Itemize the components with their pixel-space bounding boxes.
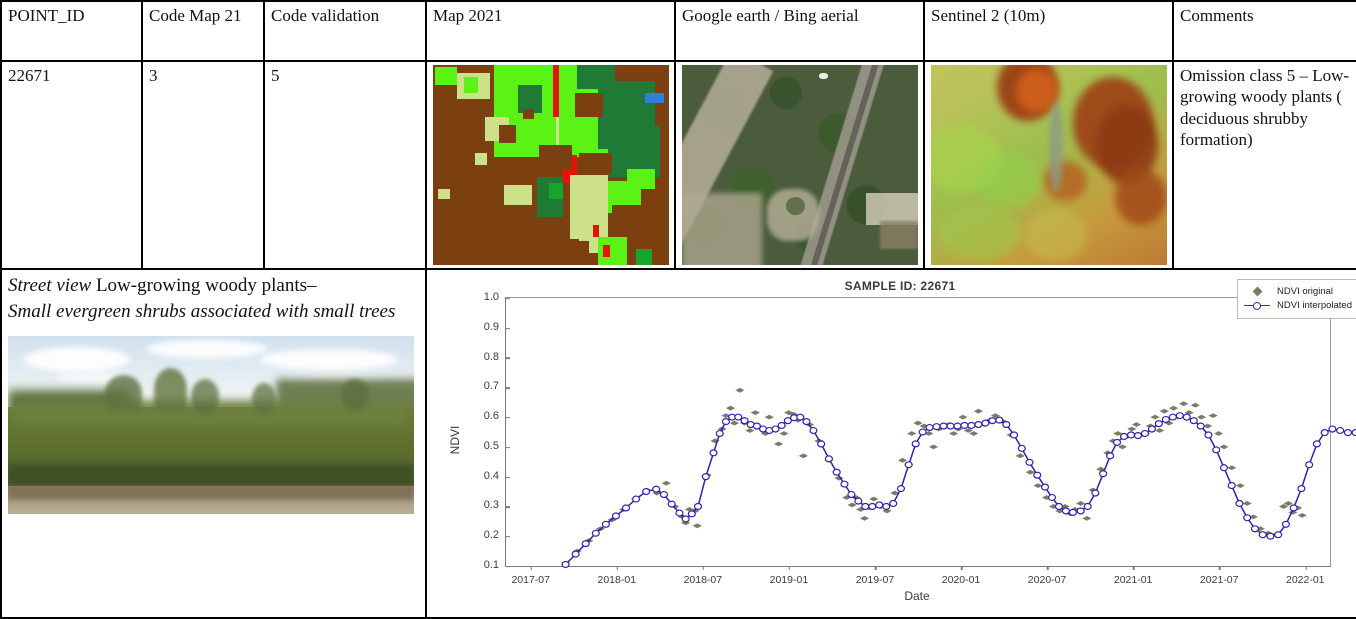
diamond-marker-icon bbox=[1244, 288, 1270, 295]
cell-code-map-21: 3 bbox=[142, 61, 264, 269]
interpolated-marker bbox=[975, 422, 982, 428]
interpolated-marker bbox=[818, 441, 825, 447]
interpolated-marker bbox=[1183, 414, 1190, 420]
interpolated-marker bbox=[633, 496, 640, 502]
interpolated-marker bbox=[919, 429, 926, 435]
interpolated-marker bbox=[1011, 432, 1018, 438]
legend-label: NDVI interpolated bbox=[1277, 299, 1352, 313]
interpolated-marker bbox=[883, 503, 890, 509]
scatter-point bbox=[1298, 513, 1307, 518]
cell-code-validation: 5 bbox=[264, 61, 426, 269]
interpolated-marker bbox=[1026, 459, 1033, 465]
interpolated-marker bbox=[1251, 526, 1258, 532]
scatter-point bbox=[726, 406, 735, 411]
x-axis-tick: 2021-07 bbox=[1200, 566, 1239, 587]
interpolated-marker bbox=[653, 486, 660, 492]
scatter-point bbox=[751, 410, 760, 415]
interpolated-marker bbox=[1275, 532, 1282, 538]
street-view-caption: Street view Low-growing woody plants– Sm… bbox=[8, 273, 419, 324]
cloud-shape bbox=[24, 347, 130, 372]
interpolated-marker bbox=[695, 503, 702, 509]
header-point-id: POINT_ID bbox=[1, 1, 142, 61]
caption-line-2: Small evergreen shrubs associated with s… bbox=[8, 301, 395, 322]
x-axis-tick: 2020-07 bbox=[1028, 566, 1067, 587]
table-header-row: POINT_ID Code Map 21 Code validation Map… bbox=[1, 1, 1356, 61]
interpolated-marker bbox=[1169, 414, 1176, 420]
interpolated-marker bbox=[989, 418, 996, 424]
interpolated-marker bbox=[810, 428, 817, 434]
interpolated-marker bbox=[926, 425, 933, 431]
interpolated-marker bbox=[940, 423, 947, 429]
interpolated-marker bbox=[1018, 445, 1025, 451]
caption-italic-lead: Street view bbox=[8, 275, 91, 296]
chart-title: SAMPLE ID: 22671 bbox=[433, 279, 1356, 294]
interpolated-marker bbox=[716, 431, 723, 437]
map-2021-image bbox=[433, 65, 669, 265]
interpolated-marker bbox=[741, 418, 748, 424]
scatter-point bbox=[929, 444, 938, 449]
scatter-point bbox=[1160, 409, 1169, 414]
interpolated-marker bbox=[778, 423, 785, 429]
interpolated-marker bbox=[1114, 439, 1121, 445]
scatter-point bbox=[1191, 403, 1200, 408]
interpolated-marker bbox=[1190, 418, 1197, 424]
interpolated-marker bbox=[1107, 453, 1114, 459]
chart-series-svg bbox=[506, 298, 1330, 566]
scatter-point bbox=[898, 458, 907, 463]
interpolated-marker bbox=[862, 503, 869, 509]
interpolated-marker bbox=[869, 503, 876, 509]
scatter-point bbox=[974, 409, 983, 414]
interpolated-marker bbox=[905, 462, 912, 468]
x-axis-tick: 2019-01 bbox=[770, 566, 809, 587]
interpolated-marker bbox=[876, 502, 883, 508]
scatter-point bbox=[662, 481, 671, 486]
y-axis-tick: 0.9 bbox=[484, 321, 506, 335]
interpolated-marker bbox=[688, 511, 695, 517]
interpolated-marker bbox=[1267, 533, 1274, 539]
street-view-photo bbox=[8, 336, 414, 514]
scatter-point bbox=[1169, 406, 1178, 411]
interpolated-marker bbox=[1084, 503, 1091, 509]
interpolated-marker bbox=[1259, 532, 1266, 538]
interpolated-marker bbox=[890, 501, 897, 507]
interpolated-marker bbox=[1344, 430, 1351, 436]
interpolated-marker bbox=[1121, 434, 1128, 440]
interpolated-marker bbox=[710, 450, 717, 456]
interpolated-marker bbox=[562, 562, 569, 568]
y-axis-tick: 0.6 bbox=[484, 410, 506, 424]
scatter-point bbox=[1243, 501, 1252, 506]
chart-plot-area: 1.00.90.80.70.60.50.40.30.20.12017-07201… bbox=[505, 297, 1331, 567]
scatter-point bbox=[869, 497, 878, 502]
interpolated-marker bbox=[602, 521, 609, 527]
y-axis-tick: 0.8 bbox=[484, 351, 506, 365]
interpolated-marker bbox=[897, 486, 904, 492]
interpolated-marker bbox=[1034, 472, 1041, 478]
interpolated-marker bbox=[702, 474, 709, 480]
interpolated-marker bbox=[1197, 423, 1204, 429]
interpolated-marker bbox=[1213, 447, 1220, 453]
validation-table: POINT_ID Code Map 21 Code validation Map… bbox=[0, 0, 1356, 619]
scatter-point bbox=[765, 415, 774, 420]
interpolated-marker bbox=[1155, 421, 1162, 427]
scatter-point bbox=[779, 431, 788, 436]
cell-aerial-thumbnail bbox=[675, 61, 924, 269]
interpolated-marker bbox=[848, 492, 855, 498]
interpolated-marker bbox=[1329, 426, 1336, 432]
interpolated-marker bbox=[582, 541, 589, 547]
scatter-point bbox=[907, 431, 916, 436]
interpolated-marker bbox=[855, 498, 862, 504]
interpolated-marker bbox=[1352, 430, 1356, 436]
interpolated-marker bbox=[1220, 465, 1227, 471]
interpolated-marker bbox=[660, 492, 667, 498]
interpolated-marker bbox=[572, 551, 579, 557]
interpolated-marker bbox=[1100, 471, 1107, 477]
interpolated-line bbox=[566, 416, 1356, 565]
x-axis-tick: 2017-07 bbox=[511, 566, 550, 587]
interpolated-marker bbox=[825, 456, 832, 462]
interpolated-marker bbox=[668, 501, 675, 507]
scatter-point bbox=[693, 523, 702, 528]
scatter-point bbox=[1209, 413, 1218, 418]
interpolated-marker bbox=[961, 423, 968, 429]
x-axis-tick: 2022-01 bbox=[1286, 566, 1325, 587]
cell-street-view: Street view Low-growing woody plants– Sm… bbox=[1, 269, 426, 618]
interpolated-marker bbox=[1128, 432, 1135, 438]
chart-x-axis-label: Date bbox=[505, 589, 1329, 604]
scatter-point bbox=[1155, 428, 1164, 433]
small-tree bbox=[252, 383, 276, 415]
cloud-shape bbox=[146, 340, 268, 358]
interpolated-marker bbox=[1321, 430, 1328, 436]
cloud-shape bbox=[260, 349, 398, 370]
google-earth-bing-aerial-image bbox=[682, 65, 918, 265]
interpolated-marker bbox=[676, 510, 683, 516]
scatter-point bbox=[1197, 415, 1206, 420]
header-map-2021: Map 2021 bbox=[426, 1, 675, 61]
header-code-map-21: Code Map 21 bbox=[142, 1, 264, 61]
cell-ndvi-chart: SAMPLE ID: 22671 NDVI Date 1.00.90.80.70… bbox=[426, 269, 1356, 618]
y-axis-tick: 1.0 bbox=[484, 291, 506, 305]
scatter-point bbox=[1179, 401, 1188, 406]
scatter-point bbox=[860, 516, 869, 521]
interpolated-marker bbox=[682, 516, 689, 522]
scatter-point bbox=[799, 453, 808, 458]
interpolated-marker bbox=[1313, 441, 1320, 447]
header-comments: Comments bbox=[1173, 1, 1356, 61]
scatter-point bbox=[730, 421, 739, 426]
gravel-band bbox=[8, 486, 414, 500]
interpolated-marker bbox=[1069, 509, 1076, 515]
interpolated-marker bbox=[623, 505, 630, 511]
interpolated-marker bbox=[947, 423, 954, 429]
y-axis-tick: 0.5 bbox=[484, 440, 506, 454]
cell-point-id: 22671 bbox=[1, 61, 142, 269]
legend-item-ndvi-original: NDVI original bbox=[1244, 285, 1352, 299]
table-row-streetview: Street view Low-growing woody plants– Sm… bbox=[1, 269, 1356, 618]
interpolated-marker bbox=[803, 419, 810, 425]
y-axis-tick: 0.3 bbox=[484, 500, 506, 514]
interpolated-marker bbox=[1141, 431, 1148, 437]
interpolated-marker bbox=[982, 420, 989, 426]
document-page: POINT_ID Code Map 21 Code validation Map… bbox=[0, 0, 1356, 619]
interpolated-marker bbox=[612, 513, 619, 519]
cell-comments: Omission class 5 – Low-growing woody pla… bbox=[1173, 61, 1356, 269]
scatter-point bbox=[1227, 465, 1236, 470]
interpolated-marker bbox=[1056, 503, 1063, 509]
interpolated-marker bbox=[1062, 508, 1069, 514]
interpolated-marker bbox=[1306, 462, 1313, 468]
chart-y-axis-label: NDVI bbox=[448, 426, 463, 455]
interpolated-marker bbox=[996, 417, 1003, 423]
interpolated-marker bbox=[1176, 413, 1183, 419]
interpolated-marker bbox=[833, 469, 840, 475]
interpolated-marker bbox=[1228, 483, 1235, 489]
y-axis-tick: 0.7 bbox=[484, 380, 506, 394]
x-axis-tick: 2019-07 bbox=[856, 566, 895, 587]
interpolated-marker bbox=[1042, 484, 1049, 490]
header-aerial: Google earth / Bing aerial bbox=[675, 1, 924, 61]
ndvi-time-series-chart: SAMPLE ID: 22671 NDVI Date 1.00.90.80.70… bbox=[433, 273, 1356, 607]
scatter-point bbox=[1016, 453, 1025, 458]
y-axis-tick: 0.1 bbox=[484, 559, 506, 573]
y-axis-tick: 0.2 bbox=[484, 529, 506, 543]
cell-sentinel2-thumbnail bbox=[924, 61, 1173, 269]
interpolated-marker bbox=[1337, 428, 1344, 434]
header-sentinel2: Sentinel 2 (10m) bbox=[924, 1, 1173, 61]
x-axis-tick: 2018-07 bbox=[684, 566, 723, 587]
scatter-point bbox=[969, 431, 978, 436]
x-axis-tick: 2020-01 bbox=[942, 566, 981, 587]
interpolated-marker bbox=[1282, 521, 1289, 527]
interpolated-marker bbox=[1148, 426, 1155, 432]
interpolated-marker bbox=[797, 414, 804, 420]
interpolated-marker bbox=[933, 424, 940, 430]
scatter-point bbox=[745, 428, 754, 433]
scatter-point bbox=[1214, 431, 1223, 436]
header-code-validation: Code validation bbox=[264, 1, 426, 61]
caption-rest: Low-growing woody plants– bbox=[91, 275, 316, 296]
scatter-point bbox=[1150, 415, 1159, 420]
legend-item-ndvi-interpolated: NDVI interpolated bbox=[1244, 299, 1352, 313]
interpolated-marker bbox=[968, 423, 975, 429]
scatter-point bbox=[1082, 516, 1091, 521]
sentinel-2-image bbox=[931, 65, 1167, 265]
interpolated-marker bbox=[841, 481, 848, 487]
scatter-point bbox=[1236, 483, 1245, 488]
interpolated-marker bbox=[1290, 505, 1297, 511]
scatter-point bbox=[913, 421, 922, 426]
scatter-point bbox=[958, 415, 967, 420]
x-axis-tick: 2021-01 bbox=[1114, 566, 1153, 587]
interpolated-marker bbox=[1003, 422, 1010, 428]
table-row: 22671 3 5 bbox=[1, 61, 1356, 269]
scatter-point bbox=[774, 441, 783, 446]
scatter-point bbox=[1219, 444, 1228, 449]
small-tree bbox=[191, 379, 219, 415]
interpolated-marker bbox=[1135, 433, 1142, 439]
scatter-point bbox=[1127, 427, 1136, 432]
interpolated-marker bbox=[1236, 501, 1243, 507]
chart-legend: NDVI original NDVI interpolated bbox=[1237, 279, 1356, 319]
interpolated-marker bbox=[1162, 417, 1169, 423]
interpolated-marker bbox=[722, 419, 729, 425]
interpolated-marker bbox=[1092, 490, 1099, 496]
cell-map-2021-thumbnail bbox=[426, 61, 675, 269]
interpolated-marker bbox=[1205, 432, 1212, 438]
interpolated-marker bbox=[1244, 515, 1251, 521]
interpolated-marker bbox=[1298, 486, 1305, 492]
interpolated-marker bbox=[592, 530, 599, 536]
interpolated-marker bbox=[912, 441, 919, 447]
scatter-point bbox=[735, 388, 744, 393]
interpolated-marker bbox=[954, 423, 961, 429]
scatter-point bbox=[1132, 422, 1141, 427]
small-tree bbox=[105, 375, 142, 411]
interpolated-marker bbox=[1049, 495, 1056, 501]
y-axis-tick: 0.4 bbox=[484, 470, 506, 484]
legend-label: NDVI original bbox=[1277, 285, 1333, 299]
interpolated-marker bbox=[643, 489, 650, 495]
line-marker-icon bbox=[1244, 302, 1270, 310]
small-tree bbox=[154, 368, 186, 411]
x-axis-tick: 2018-01 bbox=[598, 566, 637, 587]
scatter-point bbox=[949, 431, 958, 436]
interpolated-marker bbox=[1077, 508, 1084, 514]
